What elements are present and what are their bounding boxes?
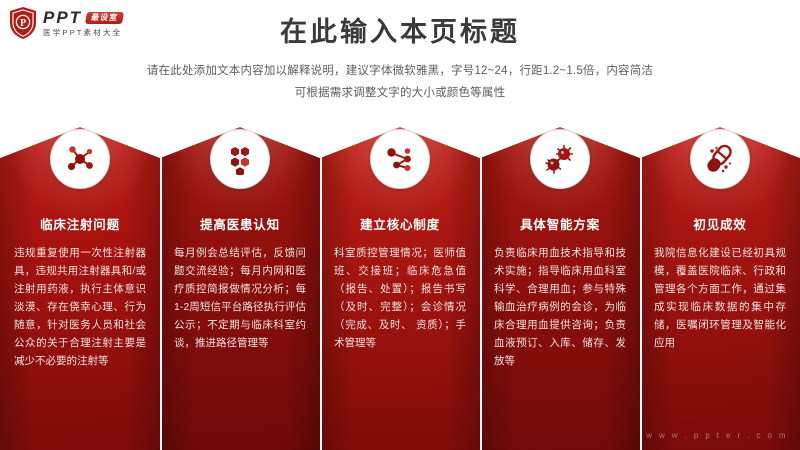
column-4[interactable]: 具体智能方案 负责临床用血技术指导和技术实施；指导临床用血科室科学、合理用血；参… xyxy=(480,127,640,450)
column-4-body: 负责临床用血技术指导和技术实施；指导临床用血科室科学、合理用血；参与特殊输血治疗… xyxy=(494,244,626,370)
column-2-body: 每月例会总结评估，反馈问题交流经验；每月内网和医疗质控简报做情况分析；每1-2周… xyxy=(174,244,306,352)
virus-cells-icon xyxy=(530,129,590,189)
column-3-title: 建立核心制度 xyxy=(320,214,480,233)
column-1-body: 违规重复使用一次性注射器具，违规共用注射器具和/或注射用药液，执行主体意识淡漠、… xyxy=(14,244,146,370)
share-nodes-icon xyxy=(370,129,430,189)
logo-badge: 最设室 xyxy=(85,12,124,24)
column-3[interactable]: 建立核心制度 科室质控管理情况；医师值班、交接班；临床危急值（报告、处置）；报告… xyxy=(320,127,480,450)
shield-logo-icon: P xyxy=(8,6,38,40)
brand-logo: P PPT 最设室 医学PPT素材大全 xyxy=(8,6,123,40)
page-subtitle: 请在此处添加文本内容加以解释说明，建议字体微软雅黑，字号12~24，行距1.2~… xyxy=(80,48,720,104)
logo-tagline: 医学PPT素材大全 xyxy=(43,29,123,37)
column-5-title: 初见成效 xyxy=(640,214,800,233)
subtitle-line-1: 请在此处添加文本内容加以解释说明，建议字体微软雅黑，字号12~24，行距1.2~… xyxy=(80,61,720,82)
column-3-body: 科室质控管理情况；医师值班、交接班；临床危急值（报告、处置）；报告书写（及时、完… xyxy=(334,244,466,352)
subtitle-line-2: 可根据需求调整文字的大小或颜色等属性 xyxy=(80,83,720,104)
footer-watermark: w w w . p p t e r . c o m xyxy=(646,431,788,440)
pill-capsule-icon xyxy=(690,129,750,189)
honeycomb-icon xyxy=(210,129,270,189)
svg-text:P: P xyxy=(20,18,26,29)
column-5[interactable]: 初见成效 我院信息化建设已经初具规模，覆盖医院临床、行政和管理各个方面工作，通过… xyxy=(640,127,800,450)
column-5-body: 我院信息化建设已经初具规模，覆盖医院临床、行政和管理各个方面工作，通过集成实现临… xyxy=(654,244,786,352)
column-1-title: 临床注射问题 xyxy=(0,214,160,233)
logo-brand-text: PPT xyxy=(43,9,82,26)
column-2[interactable]: 提高医患认知 每月例会总结评估，反馈问题交流经验；每月内网和医疗质控简报做情况分… xyxy=(160,127,320,450)
content-columns: 临床注射问题 违规重复使用一次性注射器具，违规共用注射器具和/或注射用药液，执行… xyxy=(0,127,800,450)
column-4-title: 具体智能方案 xyxy=(480,214,640,233)
column-2-title: 提高医患认知 xyxy=(160,214,320,233)
logo-wordmark: PPT 最设室 医学PPT素材大全 xyxy=(43,9,123,37)
column-1[interactable]: 临床注射问题 违规重复使用一次性注射器具，违规共用注射器具和/或注射用药液，执行… xyxy=(0,127,160,450)
molecule-icon xyxy=(50,129,110,189)
